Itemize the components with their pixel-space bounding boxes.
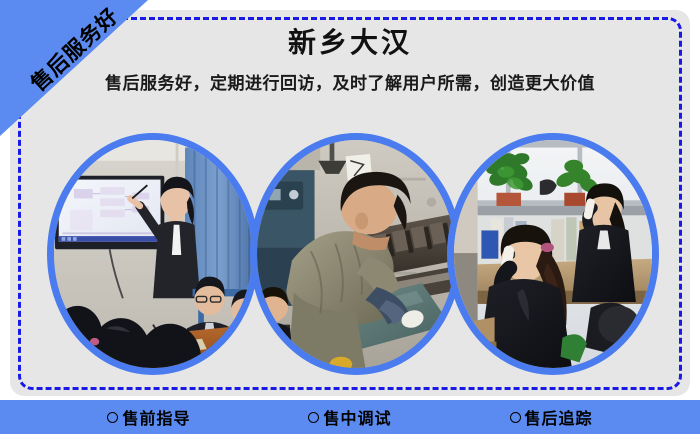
service-item-insales[interactable]: 售中调试 bbox=[308, 405, 391, 429]
service-item-label: 售后追踪 bbox=[525, 405, 593, 429]
service-item-presales[interactable]: 售前指导 bbox=[107, 405, 190, 429]
circle-outline-icon bbox=[308, 412, 319, 423]
circle-outline-icon bbox=[510, 412, 521, 423]
machine-operation-image bbox=[257, 140, 455, 368]
photo-circle-machine bbox=[250, 133, 462, 375]
corner-ribbon: 售后服务好 bbox=[0, 0, 148, 136]
service-item-aftersales[interactable]: 售后追踪 bbox=[510, 405, 593, 429]
circle-outline-icon bbox=[107, 412, 118, 423]
service-item-label: 售前指导 bbox=[122, 405, 190, 429]
service-bar: 售前指导 售中调试 售后追踪 bbox=[0, 400, 700, 434]
photo-circle-training bbox=[47, 133, 259, 375]
training-presentation-image bbox=[54, 140, 252, 368]
promo-banner: 新乡大汉 售后服务好，定期进行回访，及时了解用户所需，创造更大价值 bbox=[0, 0, 700, 434]
phone-support-image bbox=[454, 140, 652, 368]
service-item-label: 售中调试 bbox=[323, 405, 391, 429]
photo-circle-support bbox=[447, 133, 659, 375]
